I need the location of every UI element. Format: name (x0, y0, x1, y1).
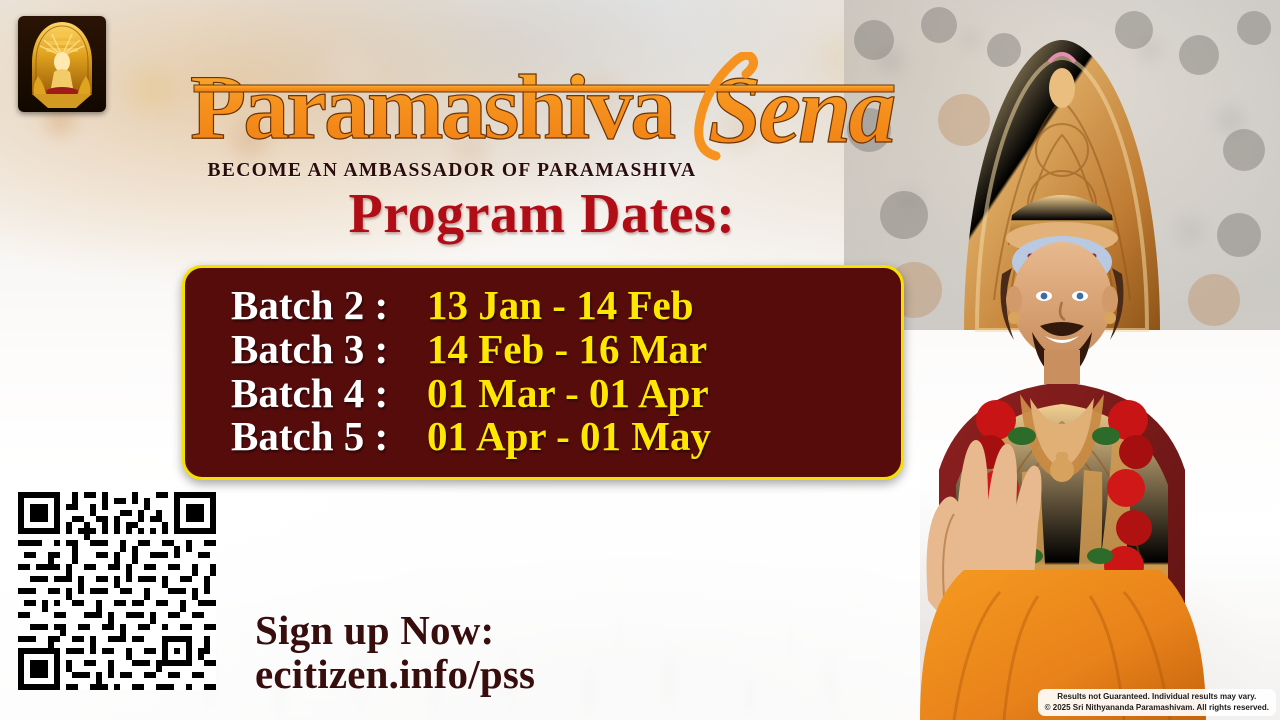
batch-label: Batch 5 : (231, 415, 427, 459)
paramashiva-sena-logo: Paramashiva Sena (188, 52, 908, 164)
batch-date-range: 01 Mar - 01 Apr (427, 372, 709, 416)
svg-text:Paramashiva: Paramashiva (190, 56, 675, 158)
batch-label: Batch 3 : (231, 328, 427, 372)
schedule-row: Batch 2 : 13 Jan - 14 Feb (185, 284, 901, 328)
promo-poster: Paramashiva Sena BECOME AN AMBASSADOR OF… (0, 0, 1280, 720)
disclaimer-line-results: Results not Guaranteed. Individual resul… (1045, 691, 1269, 702)
signup-url[interactable]: ecitizen.info/pss (255, 652, 535, 696)
signup-cta: Sign up Now: ecitizen.info/pss (255, 608, 535, 697)
batch-label: Batch 4 : (231, 372, 427, 416)
schedule-row: Batch 4 : 01 Mar - 01 Apr (185, 372, 901, 416)
page-title: Program Dates: (180, 186, 904, 242)
batch-date-range: 14 Feb - 16 Mar (427, 328, 707, 372)
signup-prompt: Sign up Now: (255, 608, 535, 652)
deity-emblem-icon (18, 16, 106, 112)
batch-date-range: 13 Jan - 14 Feb (427, 284, 694, 328)
program-dates-box: Batch 2 : 13 Jan - 14 Feb Batch 3 : 14 F… (182, 265, 904, 480)
signup-qr-code[interactable] (18, 492, 216, 690)
guru-portrait-photo (844, 0, 1280, 720)
disclaimer: Results not Guaranteed. Individual resul… (1038, 689, 1276, 716)
batch-label: Batch 2 : (231, 284, 427, 328)
schedule-row: Batch 3 : 14 Feb - 16 Mar (185, 328, 901, 372)
disclaimer-line-copyright: © 2025 Sri Nithyananda Paramashivam. All… (1045, 702, 1269, 713)
logo-tagline: BECOME AN AMBASSADOR OF PARAMASHIVA (196, 160, 708, 182)
svg-text:Sena: Sena (708, 56, 894, 163)
batch-date-range: 01 Apr - 01 May (427, 415, 711, 459)
schedule-row: Batch 5 : 01 Apr - 01 May (185, 415, 901, 459)
